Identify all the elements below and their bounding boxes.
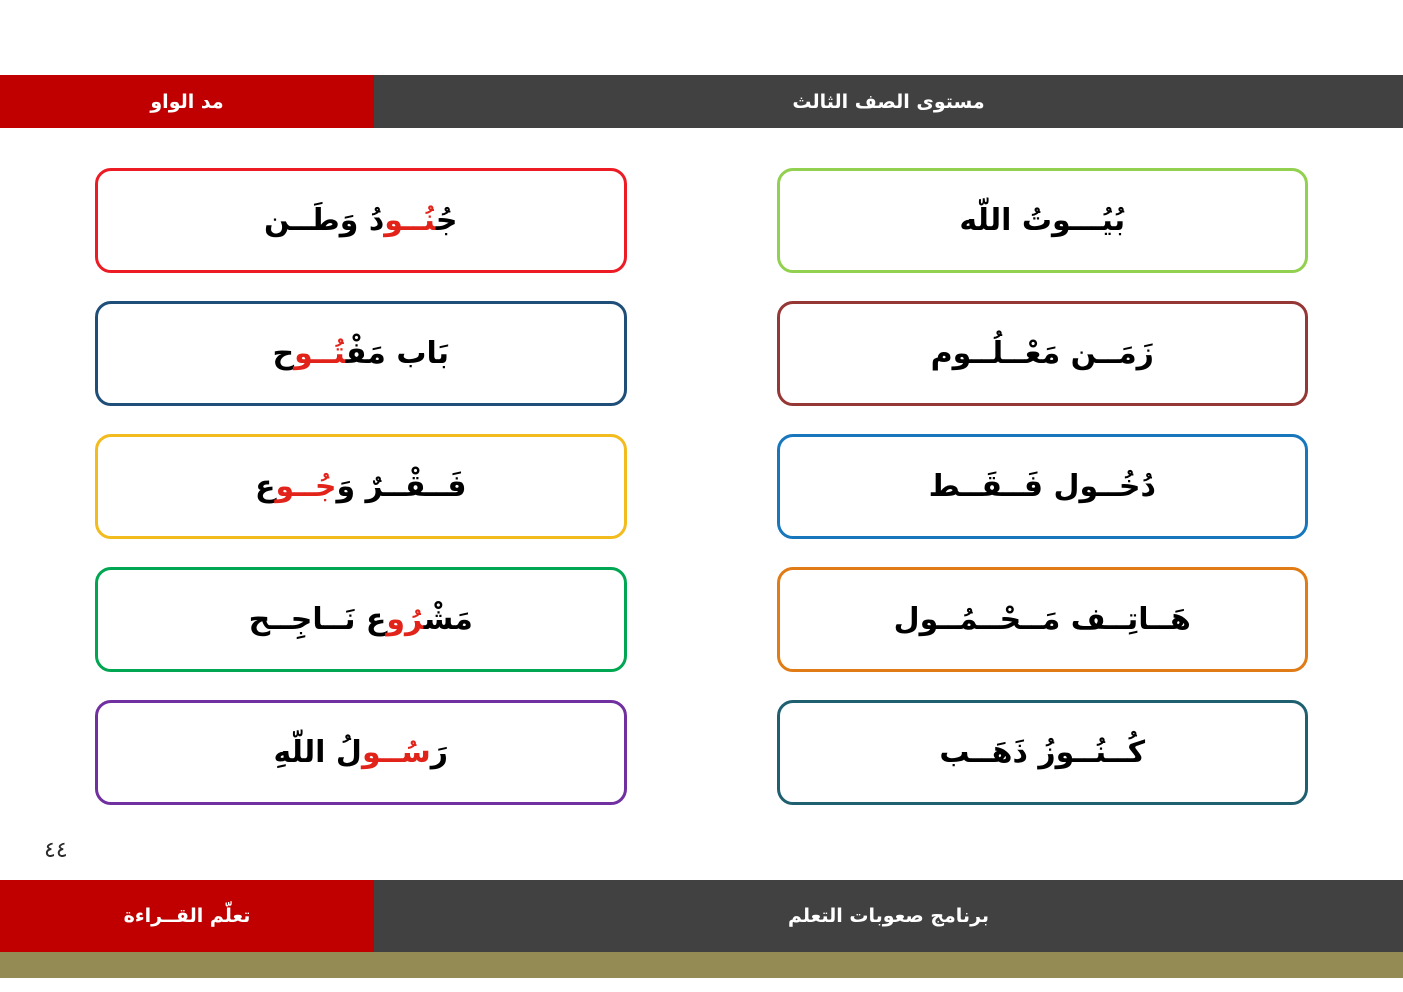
word-text: مَشْرُوع نَــاجِــح xyxy=(249,599,473,641)
page-number: ٤٤ xyxy=(44,838,68,863)
word-card[interactable]: زَمَــن مَعْــلُــوم xyxy=(777,301,1309,406)
word-card[interactable]: كُــنُــوزُ ذَهَــب xyxy=(777,700,1309,805)
word-segment: لُ اللّهِ xyxy=(273,735,361,770)
word-card[interactable]: جُنُــودُ وَطَــن xyxy=(95,168,627,273)
top-banner: مد الواو مستوى الصف الثالث xyxy=(0,75,1403,128)
footer-accent-strip xyxy=(0,952,1403,978)
word-segment: كُــنُــوزُ ذَهَــب xyxy=(939,735,1145,770)
word-segment: ع xyxy=(255,469,276,504)
word-card[interactable]: بَاب مَفْتُــوح xyxy=(95,301,627,406)
left-word-column: بُيُـــوتُ اللّهزَمَــن مَعْــلُــومدُخُ… xyxy=(777,168,1309,808)
word-text: دُخُــول فَــقَــط xyxy=(929,466,1156,508)
right-word-column: جُنُــودُ وَطَــنبَاب مَفْتُــوحفَــقْــ… xyxy=(95,168,627,808)
word-segment: دُخُــول فَــقَــط xyxy=(929,469,1156,504)
word-text: فَــقْــرٌ وَجُــوع xyxy=(255,466,466,508)
madd-waw-highlight: رُو xyxy=(386,602,423,637)
word-segment: بَاب مَفْ xyxy=(346,336,449,371)
madd-waw-highlight: تُــو xyxy=(294,336,346,371)
word-text: جُنُــودُ وَطَــن xyxy=(264,200,457,242)
word-text: كُــنُــوزُ ذَهَــب xyxy=(939,732,1145,774)
madd-waw-highlight: نُــو xyxy=(384,203,436,238)
lesson-title: مد الواو xyxy=(0,75,374,128)
madd-waw-highlight: سُــو xyxy=(362,735,431,770)
word-segment: فَــقْــرٌ وَ xyxy=(336,469,466,504)
word-text: هَــاتِــف مَــحْــمُــول xyxy=(894,599,1191,641)
word-text: رَسُــولُ اللّهِ xyxy=(273,732,448,774)
word-card[interactable]: بُيُـــوتُ اللّه xyxy=(777,168,1309,273)
word-segment: دُ وَطَــن xyxy=(264,203,384,238)
word-segment: رَ xyxy=(431,735,448,770)
grade-level-label: مستوى الصف الثالث xyxy=(374,75,1403,128)
footer-program-label: برنامج صعوبات التعلم xyxy=(374,880,1403,952)
word-card[interactable]: رَسُــولُ اللّهِ xyxy=(95,700,627,805)
word-card[interactable]: هَــاتِــف مَــحْــمُــول xyxy=(777,567,1309,672)
word-segment: مَشْ xyxy=(424,602,473,637)
word-text: بُيُـــوتُ اللّه xyxy=(959,200,1125,242)
word-text: زَمَــن مَعْــلُــوم xyxy=(931,333,1154,375)
word-text: بَاب مَفْتُــوح xyxy=(273,333,449,375)
madd-waw-highlight: جُــو xyxy=(276,469,337,504)
word-card[interactable]: فَــقْــرٌ وَجُــوع xyxy=(95,434,627,539)
bottom-banner: تعلّم القــراءة برنامج صعوبات التعلم xyxy=(0,880,1403,952)
word-segment: ح xyxy=(273,336,295,371)
word-segment: ع نَــاجِــح xyxy=(249,602,387,637)
word-segment: هَــاتِــف مَــحْــمُــول xyxy=(894,602,1191,637)
word-segment: جُ xyxy=(436,203,458,238)
word-segment: زَمَــن مَعْــلُــوم xyxy=(931,336,1154,371)
word-card[interactable]: دُخُــول فَــقَــط xyxy=(777,434,1309,539)
word-card[interactable]: مَشْرُوع نَــاجِــح xyxy=(95,567,627,672)
word-segment: بُيُـــوتُ اللّه xyxy=(959,203,1125,238)
word-card-board: جُنُــودُ وَطَــنبَاب مَفْتُــوحفَــقْــ… xyxy=(0,168,1403,808)
footer-brand-label: تعلّم القــراءة xyxy=(0,880,374,952)
